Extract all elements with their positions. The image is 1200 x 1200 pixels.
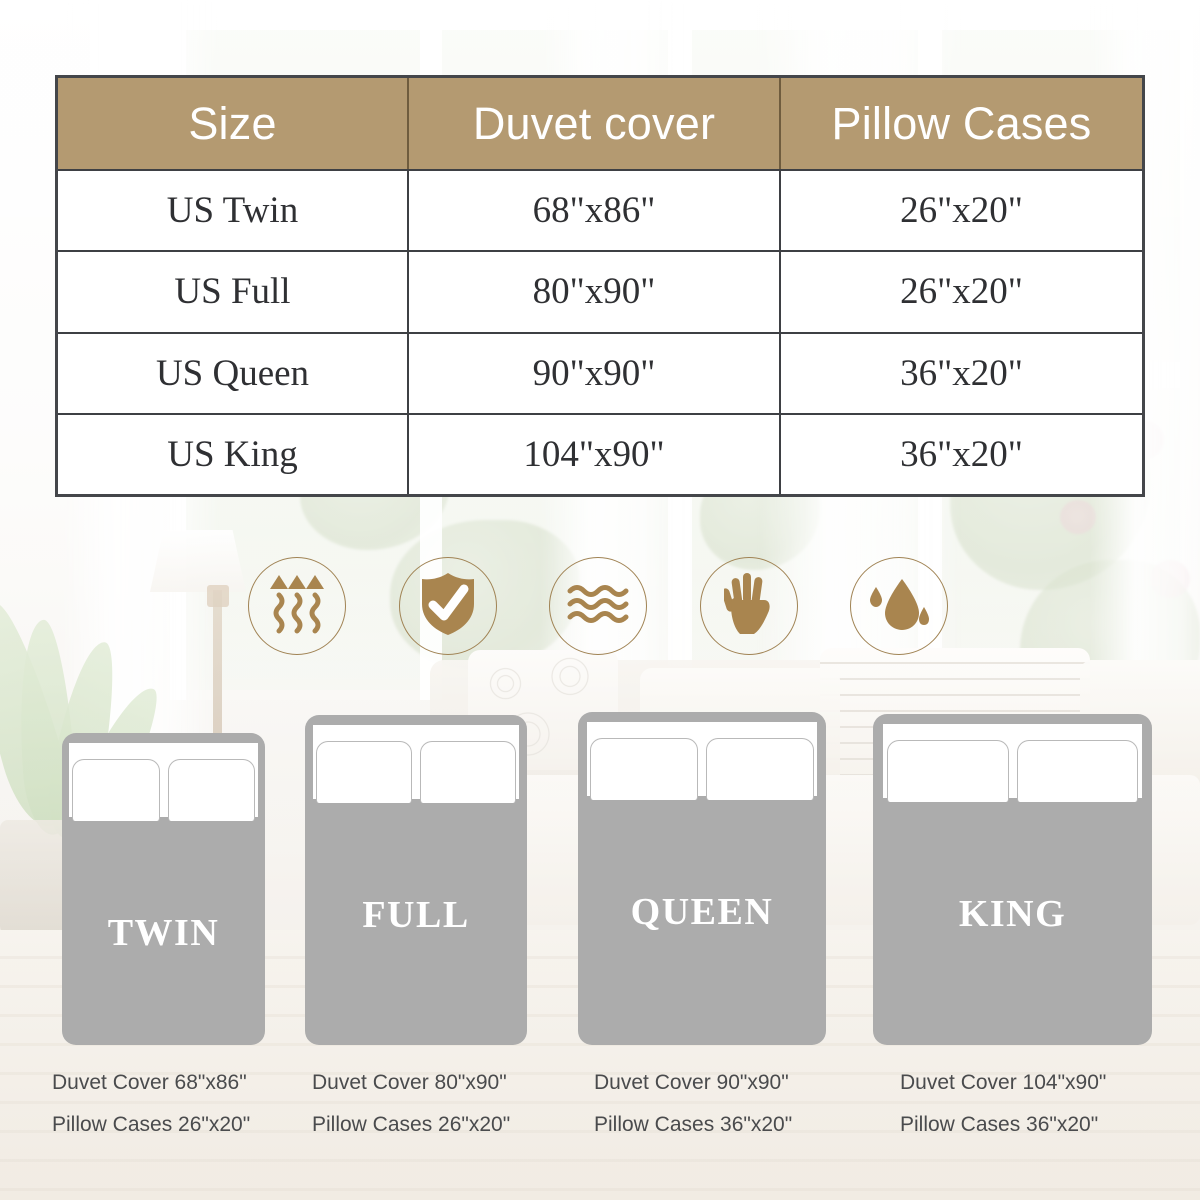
table-row: US Full 80"x90" 26"x20" [58,250,1142,331]
pillow [420,741,516,803]
bed-diagram-king: KING [873,714,1152,1045]
caption-queen-pillow: Pillow Cases 36"x20" [594,1104,792,1146]
feature-badge-moisture-wicking [850,557,948,655]
bed-diagram-full: FULL [305,715,527,1045]
cell-duvet: 68"x86" [407,171,781,250]
caption-queen: Duvet Cover 90"x90" Pillow Cases 36"x20" [594,1062,792,1146]
cell-pillow: 26"x20" [781,252,1142,331]
column-header-size: Size [58,78,407,169]
cell-size: US King [58,415,407,494]
caption-king-duvet: Duvet Cover 104"x90" [900,1062,1106,1104]
bed-label-twin: TWIN [62,911,265,955]
bed-label-full: FULL [305,893,527,937]
feature-badge-breathable [248,557,346,655]
pillow [706,738,814,800]
caption-twin: Duvet Cover 68"x86" Pillow Cases 26"x20" [52,1062,250,1146]
pillow [316,741,412,803]
pillow [887,740,1009,802]
cell-duvet: 90"x90" [407,334,781,413]
pillow [1017,740,1139,802]
pillow [590,738,698,800]
table-header-row: Size Duvet cover Pillow Cases [58,78,1142,169]
water-droplet-icon [868,573,930,640]
cell-pillow: 36"x20" [781,415,1142,494]
table-row: US Twin 68"x86" 26"x20" [58,169,1142,250]
bed-label-king: KING [873,892,1152,936]
cell-pillow: 26"x20" [781,171,1142,250]
column-header-duvet-cover: Duvet cover [407,78,781,169]
caption-queen-duvet: Duvet Cover 90"x90" [594,1062,792,1104]
wavy-lines-icon [567,582,629,631]
caption-king: Duvet Cover 104"x90" Pillow Cases 36"x20… [900,1062,1106,1146]
pillow [72,759,159,821]
table-row: US King 104"x90" 36"x20" [58,413,1142,494]
feature-badge-wrinkle-free [549,557,647,655]
cell-size: US Twin [58,171,407,250]
pillow-pair [887,740,1138,802]
cell-duvet: 80"x90" [407,252,781,331]
cell-size: US Full [58,252,407,331]
cell-duvet: 104"x90" [407,415,781,494]
caption-full: Duvet Cover 80"x90" Pillow Cases 26"x20" [312,1062,510,1146]
feature-badge-soft-touch [700,557,798,655]
pillow [168,759,255,821]
caption-full-duvet: Duvet Cover 80"x90" [312,1062,510,1104]
table-row: US Queen 90"x90" 36"x20" [58,332,1142,413]
bed-diagram-queen: QUEEN [578,712,826,1045]
caption-full-pillow: Pillow Cases 26"x20" [312,1104,510,1146]
feature-badge-protective [399,557,497,655]
cell-size: US Queen [58,334,407,413]
caption-twin-duvet: Duvet Cover 68"x86" [52,1062,250,1104]
pillow-pair [590,738,813,800]
infographic-canvas: Size Duvet cover Pillow Cases US Twin 68… [0,0,1200,1200]
hand-icon [724,572,774,641]
bed-diagram-twin: TWIN [62,733,265,1045]
feature-icon-row [248,556,948,656]
column-header-pillow-cases: Pillow Cases [781,78,1142,169]
pillow-pair [72,759,255,821]
cell-pillow: 36"x20" [781,334,1142,413]
bed-label-queen: QUEEN [578,890,826,934]
shield-check-icon [419,572,477,641]
breathable-arrows-icon [269,573,325,640]
size-chart-table: Size Duvet cover Pillow Cases US Twin 68… [55,75,1145,497]
pillow-pair [316,741,516,803]
caption-twin-pillow: Pillow Cases 26"x20" [52,1104,250,1146]
caption-king-pillow: Pillow Cases 36"x20" [900,1104,1106,1146]
